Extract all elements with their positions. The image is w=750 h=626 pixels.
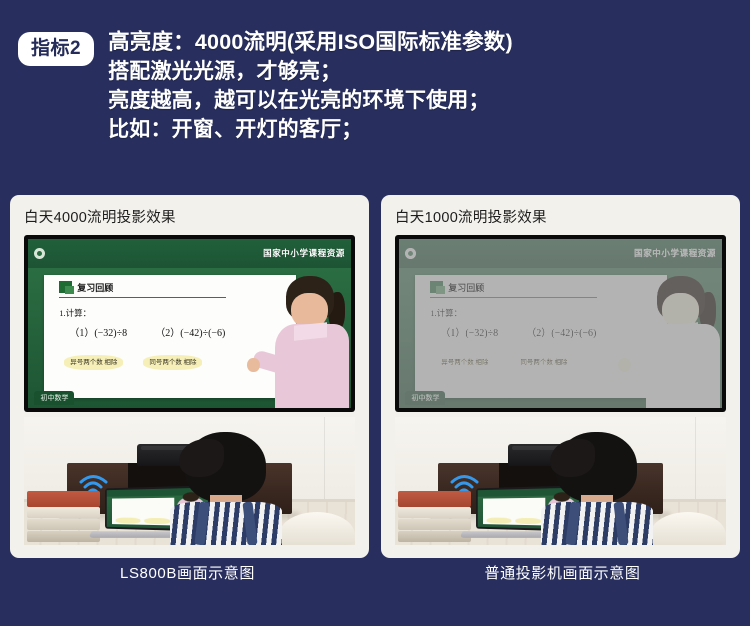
screen-body-left: 复习回顾 1.计算： （1）(−32)÷8 （2）(−42)÷(−6) 异号两个… <box>28 268 351 408</box>
slide-heading-rule <box>430 297 596 299</box>
comparison-panels: 白天4000流明投影效果 国家中小学课程资源 复习回顾 1.计算： <box>0 188 750 626</box>
wall-corner-edge <box>324 417 325 501</box>
book-red <box>27 491 100 506</box>
projection-screen-left: 国家中小学课程资源 复习回顾 1.计算： （1）(−32)÷8 （2）(−42)… <box>24 235 355 412</box>
header-line-3: 亮度越高，越可以在光亮的环境下使用； <box>108 86 513 115</box>
panel-title-right: 白天1000流明投影效果 <box>395 206 547 227</box>
course-logo-icon <box>405 248 416 259</box>
slide-expressions-left: （1）(−32)÷8 （2）(−42)÷(−6) <box>69 324 286 339</box>
slide-marker-icon <box>430 281 443 293</box>
slide-heading-rule <box>59 297 225 299</box>
slide-expressions-right: （1）(−32)÷8 （2）(−42)÷(−6) <box>440 324 657 339</box>
subject-tab-right: 初中数学 <box>405 391 445 405</box>
teacher-figure-right <box>644 276 722 408</box>
book-white <box>27 507 100 518</box>
header-line-4: 比如：开窗、开灯的客厅； <box>108 115 513 144</box>
expression-2-left: （2）(−42)÷(−6) <box>155 324 225 339</box>
course-logo-icon <box>34 248 45 259</box>
child-viewer <box>541 432 654 545</box>
screen-body-right: 复习回顾 1.计算： （1）(−32)÷8 （2）(−42)÷(−6) 异号两个… <box>399 268 722 408</box>
child-hair-tuft <box>550 439 595 477</box>
expression-1-left: （1）(−32)÷8 <box>69 324 127 339</box>
header-banner: 指标2 高亮度：4000流明(采用ISO国际标准参数) 搭配激光光源，才够亮； … <box>0 0 750 188</box>
book-beige <box>27 519 100 530</box>
screen-brand-left: 国家中小学课程资源 <box>263 247 345 259</box>
screen-brand-right: 国家中小学课程资源 <box>634 247 716 259</box>
room-scene-left <box>24 417 355 545</box>
header-text-block: 高亮度：4000流明(采用ISO国际标准参数) 搭配激光光源，才够亮； 亮度越高… <box>108 26 513 144</box>
slide-question-left: 1.计算： <box>59 307 91 319</box>
teacher-collar <box>294 322 327 340</box>
teacher-figure-left <box>273 276 351 408</box>
slide-heading-right: 复习回顾 <box>448 281 484 294</box>
wall-corner-edge <box>695 417 696 501</box>
caption-left: LS800B画面示意图 <box>0 564 375 604</box>
slide-question-right: 1.计算： <box>430 307 462 319</box>
panel-captions: LS800B画面示意图 普通投影机画面示意图 <box>0 564 750 604</box>
panel-title-left: 白天4000流明投影效果 <box>24 206 176 227</box>
book-beige <box>398 519 471 530</box>
teacher-hand <box>618 358 630 373</box>
note-2-right: 同号两个数 相除 <box>514 355 573 370</box>
caption-right: 普通投影机画面示意图 <box>375 564 750 604</box>
child-striped-shirt <box>541 502 654 545</box>
expression-1-right: （1）(−32)÷8 <box>440 324 498 339</box>
room-scene-right <box>395 417 726 545</box>
note-1-left: 异号两个数 相除 <box>64 355 123 370</box>
subject-tab-left: 初中数学 <box>34 391 74 405</box>
child-hair-tuft <box>179 439 224 477</box>
note-2-left: 同号两个数 相除 <box>143 355 202 370</box>
indicator-badge: 指标2 <box>18 32 94 66</box>
projection-screen-right: 国家中小学课程资源 复习回顾 1.计算： （1）(−32)÷8 （2）(−42)… <box>395 235 726 412</box>
lesson-slide-right: 复习回顾 1.计算： （1）(−32)÷8 （2）(−42)÷(−6) 异号两个… <box>415 275 667 398</box>
child-viewer <box>170 432 283 545</box>
book-red <box>398 491 471 506</box>
slide-heading-left: 复习回顾 <box>77 281 113 294</box>
panel-dim-1000: 白天1000流明投影效果 国家中小学课程资源 复习回顾 1.计算： <box>381 195 740 558</box>
header-line-2: 搭配激光光源，才够亮； <box>108 57 513 86</box>
note-1-right: 异号两个数 相除 <box>435 355 494 370</box>
slide-marker-icon <box>59 281 72 293</box>
lesson-slide-left: 复习回顾 1.计算： （1）(−32)÷8 （2）(−42)÷(−6) 异号两个… <box>44 275 296 398</box>
slide-heading-row-left: 复习回顾 <box>59 281 240 294</box>
teacher-collar <box>665 322 698 340</box>
screen-topbar-right: 国家中小学课程资源 <box>399 239 722 268</box>
child-striped-shirt <box>170 502 283 545</box>
slide-heading-row-right: 复习回顾 <box>430 281 611 294</box>
book-white <box>398 507 471 518</box>
header-line-1: 高亮度：4000流明(采用ISO国际标准参数) <box>108 28 513 57</box>
screen-topbar-left: 国家中小学课程资源 <box>28 239 351 268</box>
panel-bright-4000: 白天4000流明投影效果 国家中小学课程资源 复习回顾 1.计算： <box>10 195 369 558</box>
teacher-hand <box>247 358 259 373</box>
expression-2-right: （2）(−42)÷(−6) <box>526 324 596 339</box>
